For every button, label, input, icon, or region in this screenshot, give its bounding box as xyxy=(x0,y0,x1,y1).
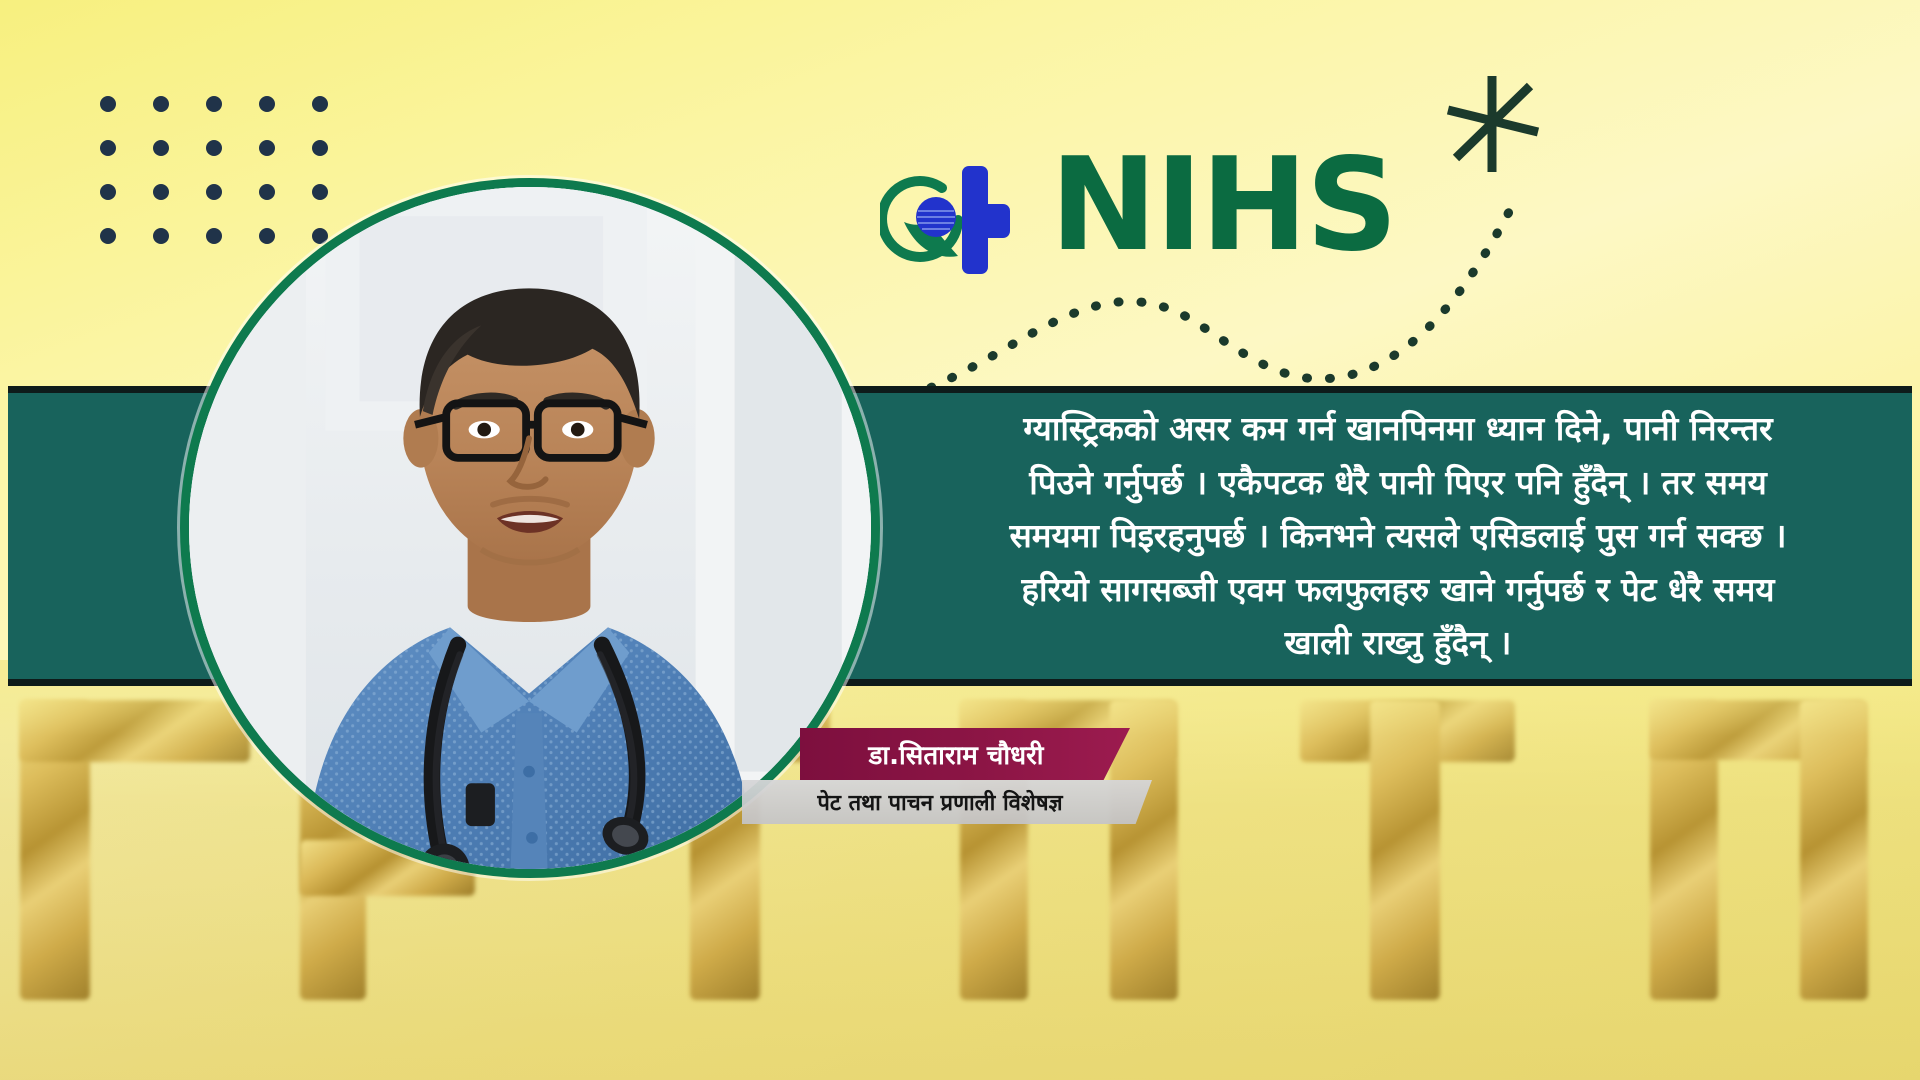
speaker-designation: पेट तथा पाचन प्रणाली विशेषज्ञ xyxy=(742,780,1152,824)
nihs-logo-text: NIHS xyxy=(1050,142,1396,270)
nihs-medical-emblem-icon xyxy=(880,164,1050,276)
message-line: पिउने गर्नुपर्छ । एकैपटक धेरै पानी पिएर … xyxy=(1029,456,1767,509)
asterisk-sparkle-icon xyxy=(1440,72,1544,176)
message-line: खाली राख्नु हुँदैन् । xyxy=(1285,616,1512,669)
speaker-name: डा.सिताराम चौधरी xyxy=(800,728,1130,780)
doctor-portrait-illustration xyxy=(189,187,871,869)
nihs-logo: NIHS xyxy=(880,150,1400,290)
message-line: ग्यास्ट्रिकको असर कम गर्न खानपिनमा ध्यान… xyxy=(1023,402,1772,455)
speaker-portrait xyxy=(180,178,880,878)
message-line: हरियो सागसब्जी एवम फलफुलहरु खाने गर्नुपर… xyxy=(1022,563,1775,616)
message-banner-text-block: ग्यास्ट्रिकको असर कम गर्न खानपिनमा ध्यान… xyxy=(888,393,1908,679)
message-line: समयमा पिइरहनुपर्छ । किनभने त्यसले एसिडला… xyxy=(1009,509,1786,562)
speaker-designation-plate: पेट तथा पाचन प्रणाली विशेषज्ञ xyxy=(742,780,1152,824)
broadcast-lower-third-graphic: NIHS ग्यास्ट्रिकको असर कम गर्न खानपिनमा … xyxy=(0,0,1920,1080)
speaker-name-plate: डा.सिताराम चौधरी xyxy=(800,728,1130,780)
